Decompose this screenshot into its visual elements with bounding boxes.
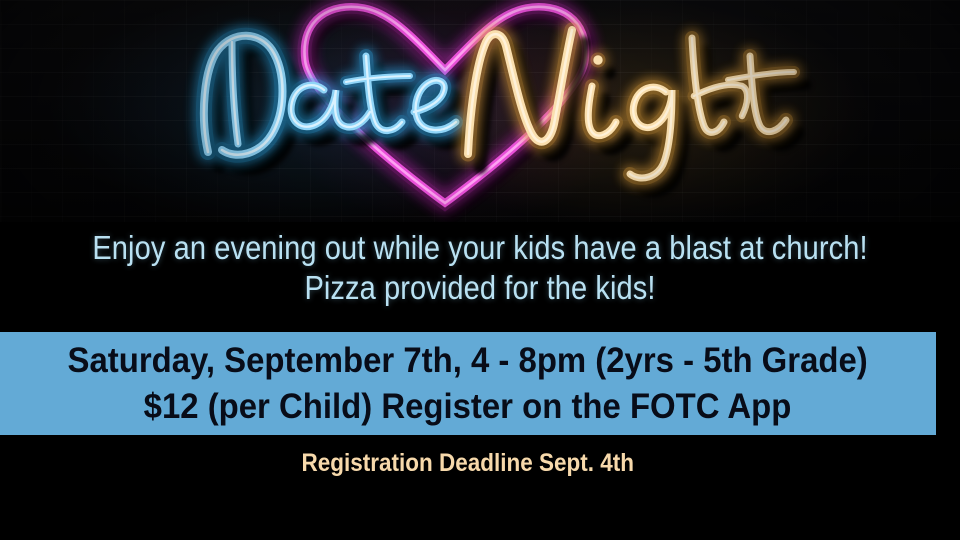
neon-word-night [468, 30, 806, 191]
registration-deadline-block: Registration Deadline Sept. 4th [0, 448, 936, 478]
event-date-time-age-line: Saturday, September 7th, 4 - 8pm (2yrs -… [68, 338, 868, 384]
registration-deadline-text: Registration Deadline Sept. 4th [302, 448, 635, 478]
subtitle-line-2: Pizza provided for the kids! [58, 268, 903, 308]
neon-sign-hero [0, 0, 960, 222]
subtitle-block: Enjoy an evening out while your kids hav… [0, 228, 960, 308]
event-price-registration-line: $12 (per Child) Register on the FOTC App [144, 384, 792, 430]
event-details-band: Saturday, September 7th, 4 - 8pm (2yrs -… [0, 332, 936, 435]
subtitle-line-1: Enjoy an evening out while your kids hav… [58, 228, 903, 268]
neon-sign-artwork [0, 0, 960, 222]
date-night-flyer: Enjoy an evening out while your kids hav… [0, 0, 960, 540]
